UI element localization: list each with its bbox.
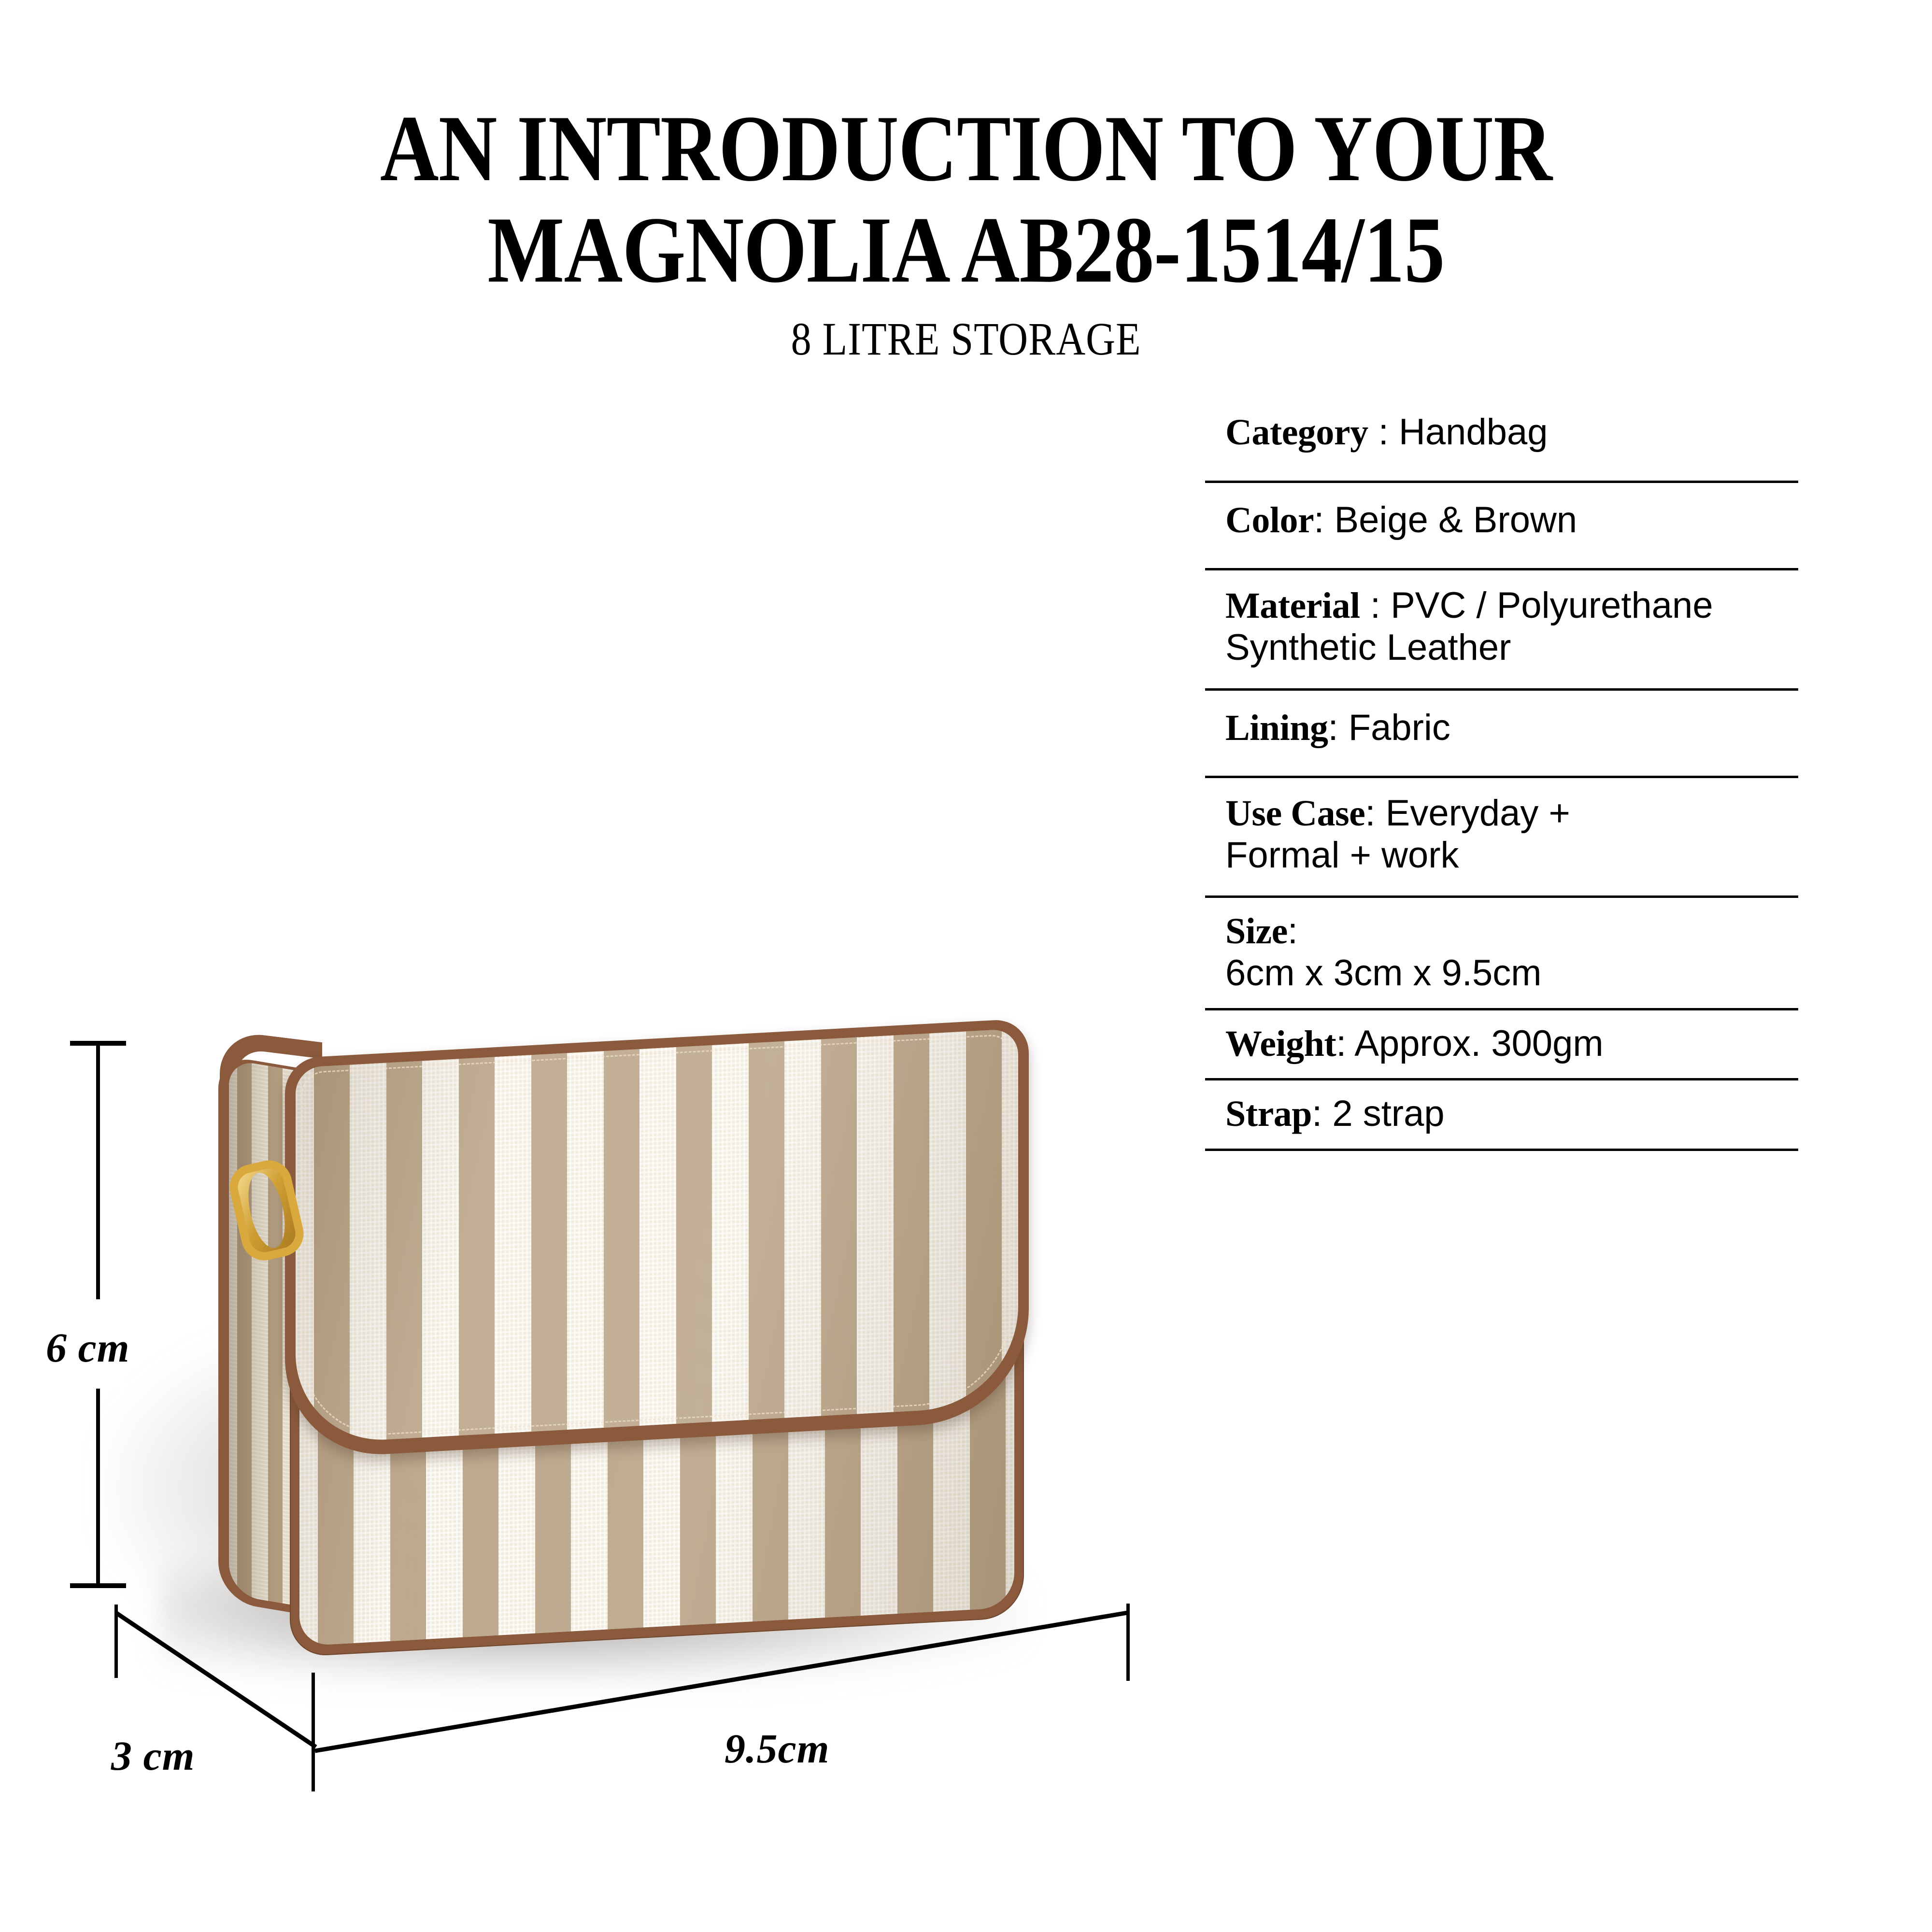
spec-label-material: Material [1225, 585, 1360, 626]
dimension-line-width [309, 1606, 1130, 1756]
product-image-figure: 6 cm 3 cm 9.5cm [0, 0, 1207, 1932]
dimension-cap-height-bottom [70, 1583, 126, 1588]
spec-value-weight: Approx. 300gm [1354, 1023, 1603, 1064]
spec-row-strap: Strap: 2 strap [1205, 1080, 1799, 1149]
spec-row-size: Size: 6cm x 3cm x 9.5cm [1205, 898, 1799, 1008]
dimension-line-depth [114, 1611, 323, 1750]
spec-label-lining: Lining [1225, 708, 1328, 748]
spec-separator: : [1328, 707, 1348, 748]
spec-value-use-case-line-2: Formal + work [1225, 835, 1459, 876]
bag-flap-shading [296, 1028, 1018, 1444]
spec-value-color: Beige & Brown [1334, 499, 1577, 540]
spec-label-color: Color [1225, 500, 1314, 540]
spec-row-use-case: Use Case: Everyday + Formal + work [1205, 778, 1799, 895]
spec-label-strap: Strap [1225, 1094, 1312, 1134]
specification-table: Category : Handbag Color: Beige & Brown … [1205, 395, 1799, 1151]
spec-row-weight: Weight: Approx. 300gm [1205, 1010, 1799, 1079]
spec-divider [1205, 1149, 1798, 1151]
dimension-cap-height-top [70, 1041, 126, 1046]
dimension-label-width: 9.5cm [724, 1724, 830, 1773]
spec-value-category: Handbag [1399, 412, 1548, 453]
spec-value-strap: 2 strap [1332, 1093, 1444, 1134]
spec-label-category: Category [1225, 412, 1368, 453]
spec-separator: : [1368, 412, 1399, 453]
bag-flap [285, 1018, 1029, 1459]
bag-flap-canvas [296, 1028, 1018, 1444]
spec-row-lining: Lining: Fabric [1205, 691, 1799, 776]
spec-row-category: Category : Handbag [1205, 395, 1799, 481]
spec-value-lining: Fabric [1349, 707, 1450, 748]
spec-value-material: PVC / Polyurethane [1391, 585, 1713, 626]
spec-separator: : [1288, 910, 1298, 952]
spec-label-weight: Weight [1225, 1023, 1336, 1064]
spec-label-size: Size [1225, 911, 1288, 952]
spec-value-size: 6cm x 3cm x 9.5cm [1225, 952, 1542, 994]
spec-separator: : [1336, 1023, 1354, 1064]
spec-label-use-case: Use Case [1225, 793, 1365, 834]
spec-row-color: Color: Beige & Brown [1205, 483, 1799, 568]
spec-separator: : [1360, 585, 1391, 626]
spec-value-material-line-2: Synthetic Leather [1225, 627, 1511, 668]
spec-row-material: Material : PVC / Polyurethane Synthetic … [1205, 570, 1799, 688]
spec-value-use-case: Everyday + [1386, 793, 1570, 834]
spec-separator: : [1312, 1093, 1332, 1134]
dimension-label-height: 6 cm [46, 1323, 130, 1372]
spec-separator: : [1314, 499, 1334, 540]
dimension-label-depth: 3 cm [111, 1732, 195, 1780]
spec-separator: : [1365, 793, 1385, 834]
